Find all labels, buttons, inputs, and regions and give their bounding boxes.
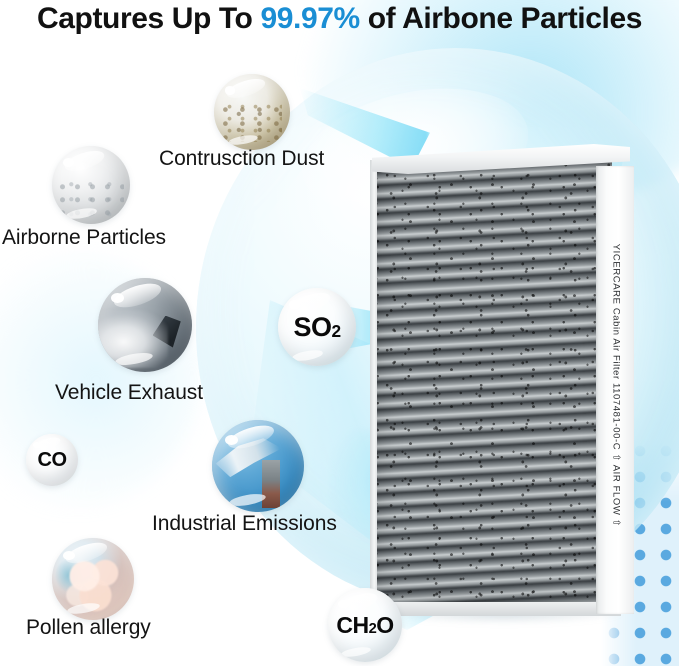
label-airborne-particles: Airborne Particles <box>2 226 166 250</box>
co-formula-text: CO <box>26 434 78 486</box>
label-pollen-allergy: Pollen allergy <box>26 616 151 640</box>
bubble-highlight-dot <box>225 435 238 445</box>
so2-formula-text: SO2 <box>278 288 356 366</box>
ch2o-formula-text: CH2O <box>328 588 402 662</box>
bubble-highlight-bottom <box>228 491 266 507</box>
headline-suffix: of Airbone Particles <box>360 2 642 35</box>
headline-accent-percentage: 99.97% <box>260 2 359 35</box>
ch2o-formula-base-b: O <box>376 612 393 639</box>
so2-formula-subscript: 2 <box>331 321 340 342</box>
bubble-airborne-particles <box>52 146 130 224</box>
filter-side-frame: YICERCARE Cabin Air Filter 1107481-00-C … <box>596 166 634 614</box>
bubble-industrial-emissions <box>212 420 304 512</box>
promo-image-canvas: YICERCARE Cabin Air Filter 1107481-00-C … <box>0 0 679 666</box>
bubble-highlight-dot <box>111 293 124 303</box>
bubble-highlight-dot <box>225 86 236 94</box>
bubble-so2: SO2 <box>278 288 356 366</box>
bubble-construction-dust <box>214 74 290 150</box>
bubble-ch2o: CH2O <box>328 588 402 662</box>
exhaust-smoke-texture <box>98 310 168 368</box>
co-formula-base: CO <box>38 449 67 472</box>
ch2o-formula-subscript: 2 <box>369 621 377 637</box>
bubble-pollen-allergy <box>52 538 134 620</box>
bubble-highlight-top <box>111 279 163 312</box>
label-vehicle-exhaust: Vehicle Exhaust <box>55 381 203 405</box>
filter-side-label-text: YICERCARE Cabin Air Filter 1107481-00-C … <box>611 166 622 606</box>
page-title: Captures Up To 99.97% of Airbone Particl… <box>0 2 679 36</box>
ch2o-formula-base-a: CH <box>336 612 368 639</box>
label-construction-dust: Contrusction Dust <box>159 147 324 171</box>
bubble-highlight-dot <box>63 158 74 167</box>
smokestack-shape <box>262 460 280 508</box>
bubble-co: CO <box>26 434 78 486</box>
filter-bottom-frame <box>371 602 621 616</box>
filter-left-frame-rail <box>370 160 377 606</box>
flower-petals-texture <box>65 556 126 612</box>
filter-carbon-speckle <box>374 158 612 606</box>
airborne-particles-texture <box>58 179 124 220</box>
bubble-highlight-top <box>63 147 106 174</box>
cabin-air-filter-product: YICERCARE Cabin Air Filter 1107481-00-C … <box>374 144 634 614</box>
dust-particles-texture <box>222 104 283 142</box>
label-industrial-emissions: Industrial Emissions <box>152 512 337 536</box>
bubble-vehicle-exhaust <box>98 278 192 372</box>
headline-prefix: Captures Up To <box>37 2 260 35</box>
bubble-highlight-top <box>225 75 267 102</box>
so2-formula-base: SO <box>293 312 331 343</box>
